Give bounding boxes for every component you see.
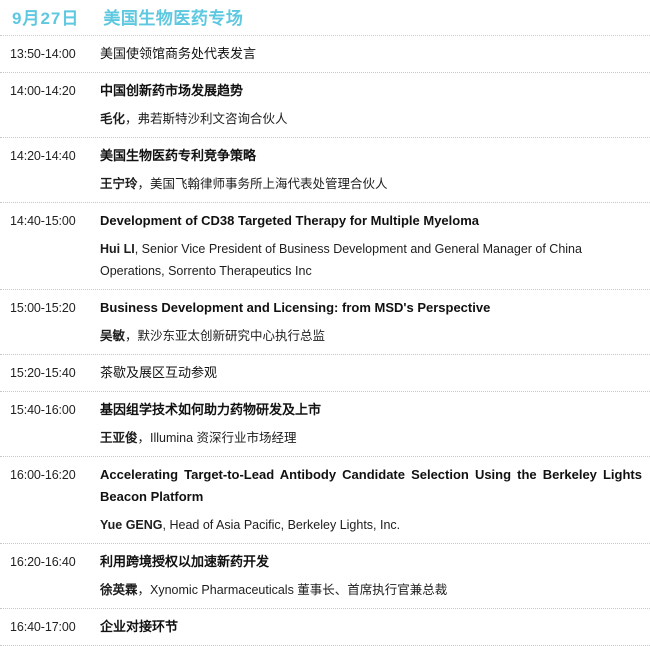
session-time: 14:40-15:00: [0, 210, 100, 232]
session-time: 15:40-16:00: [0, 399, 100, 421]
session-body: 美国生物医药专利竞争策略王宁玲，美国飞翰律师事务所上海代表处管理合伙人: [100, 145, 650, 195]
session-title: Development of CD38 Targeted Therapy for…: [100, 210, 642, 232]
session-time: 16:40-17:00: [0, 616, 100, 638]
speaker-name: 王宁玲: [100, 177, 138, 191]
speaker-name: Hui LI: [100, 242, 135, 256]
speaker-name: 徐英霖: [100, 583, 138, 597]
session-body: 企业对接环节: [100, 616, 650, 638]
speaker-affiliation: ，Xynomic Pharmaceuticals 董事长、首席执行官兼总裁: [138, 583, 448, 597]
session-speaker: Yue GENG, Head of Asia Pacific, Berkeley…: [100, 514, 642, 536]
session-speaker: 毛化，弗若斯特沙利文咨询合伙人: [100, 108, 642, 130]
session-speaker: 吴敏，默沙东亚太创新研究中心执行总监: [100, 325, 642, 347]
table-row: 15:40-16:00基因组学技术如何助力药物研发及上市王亚俊，Illumina…: [0, 392, 650, 457]
session-time: 14:20-14:40: [0, 145, 100, 167]
session-time: 16:20-16:40: [0, 551, 100, 573]
session-time: 13:50-14:00: [0, 43, 100, 65]
speaker-name: 王亚俊: [100, 431, 138, 445]
session-title: 企业对接环节: [100, 616, 642, 638]
speaker-affiliation: ，弗若斯特沙利文咨询合伙人: [125, 112, 288, 126]
session-title: 利用跨境授权以加速新药开发: [100, 551, 642, 573]
speaker-affiliation: ，美国飞翰律师事务所上海代表处管理合伙人: [138, 177, 388, 191]
session-time: 15:20-15:40: [0, 362, 100, 384]
speaker-affiliation: ，Illumina 资深行业市场经理: [138, 431, 297, 445]
session-time: 15:00-15:20: [0, 297, 100, 319]
session-title: 茶歇及展区互动参观: [100, 362, 642, 384]
table-row: 16:00-16:20Accelerating Target-to-Lead A…: [0, 457, 650, 544]
session-title: Accelerating Target-to-Lead Antibody Can…: [100, 464, 642, 508]
session-title: 基因组学技术如何助力药物研发及上市: [100, 399, 642, 421]
session-title: 中国创新药市场发展趋势: [100, 80, 642, 102]
agenda-table: 9月27日 美国生物医药专场 13:50-14:00美国使领馆商务处代表发言14…: [0, 0, 650, 646]
agenda-header: 9月27日 美国生物医药专场: [0, 0, 650, 36]
table-row: 13:50-14:00美国使领馆商务处代表发言: [0, 36, 650, 73]
session-title: 美国使领馆商务处代表发言: [100, 43, 642, 65]
table-row: 15:20-15:40茶歇及展区互动参观: [0, 355, 650, 392]
session-body: 基因组学技术如何助力药物研发及上市王亚俊，Illumina 资深行业市场经理: [100, 399, 650, 449]
speaker-affiliation: , Head of Asia Pacific, Berkeley Lights,…: [163, 518, 401, 532]
session-body: Business Development and Licensing: from…: [100, 297, 650, 347]
speaker-affiliation: , Senior Vice President of Business Deve…: [100, 242, 582, 278]
speaker-name: Yue GENG: [100, 518, 163, 532]
session-body: 美国使领馆商务处代表发言: [100, 43, 650, 65]
session-speaker: 王宁玲，美国飞翰律师事务所上海代表处管理合伙人: [100, 173, 642, 195]
speaker-name: 毛化: [100, 112, 125, 126]
session-speaker: Hui LI, Senior Vice President of Busines…: [100, 238, 642, 282]
table-row: 14:20-14:40美国生物医药专利竞争策略王宁玲，美国飞翰律师事务所上海代表…: [0, 138, 650, 203]
session-body: 茶歇及展区互动参观: [100, 362, 650, 384]
session-body: 利用跨境授权以加速新药开发徐英霖，Xynomic Pharmaceuticals…: [100, 551, 650, 601]
table-row: 15:00-15:20Business Development and Lice…: [0, 290, 650, 355]
session-speaker: 徐英霖，Xynomic Pharmaceuticals 董事长、首席执行官兼总裁: [100, 579, 642, 601]
session-title: Business Development and Licensing: from…: [100, 297, 642, 319]
speaker-name: 吴敏: [100, 329, 125, 343]
session-body: 中国创新药市场发展趋势毛化，弗若斯特沙利文咨询合伙人: [100, 80, 650, 130]
session-speaker: 王亚俊，Illumina 资深行业市场经理: [100, 427, 642, 449]
table-row: 16:40-17:00企业对接环节: [0, 609, 650, 646]
speaker-affiliation: ，默沙东亚太创新研究中心执行总监: [125, 329, 325, 343]
session-time: 16:00-16:20: [0, 464, 100, 486]
agenda-track-title: 美国生物医药专场: [103, 4, 243, 29]
session-body: Accelerating Target-to-Lead Antibody Can…: [100, 464, 650, 536]
table-row: 14:40-15:00Development of CD38 Targeted …: [0, 203, 650, 290]
table-row: 14:00-14:20中国创新药市场发展趋势毛化，弗若斯特沙利文咨询合伙人: [0, 73, 650, 138]
agenda-date: 9月27日: [12, 4, 79, 29]
agenda-rows: 13:50-14:00美国使领馆商务处代表发言14:00-14:20中国创新药市…: [0, 36, 650, 646]
table-row: 16:20-16:40利用跨境授权以加速新药开发徐英霖，Xynomic Phar…: [0, 544, 650, 609]
session-title: 美国生物医药专利竞争策略: [100, 145, 642, 167]
session-time: 14:00-14:20: [0, 80, 100, 102]
session-body: Development of CD38 Targeted Therapy for…: [100, 210, 650, 282]
